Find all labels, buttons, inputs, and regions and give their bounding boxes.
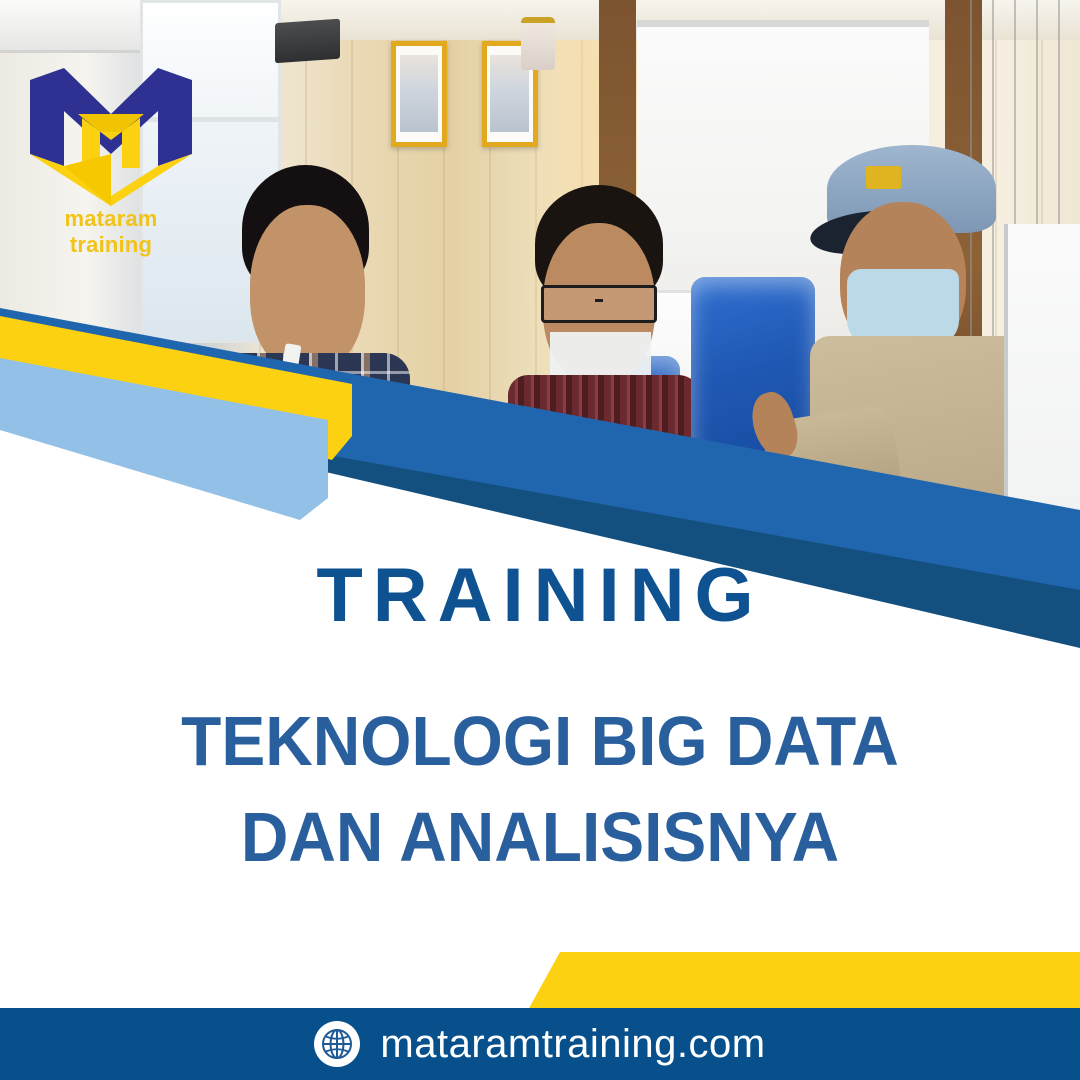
subtitle-line-2: DAN ANALISISNYA: [32, 802, 1047, 872]
cap-badge: [866, 166, 901, 189]
eyeglasses-icon: [541, 285, 658, 323]
footer-bar: mataramtraining.com: [0, 1008, 1080, 1080]
brand-logo[interactable]: mataram training: [22, 58, 200, 243]
poster-canvas: mataram training TRAINING TEKNOLOGI BIG …: [0, 0, 1080, 1080]
head: [250, 205, 365, 373]
website-url[interactable]: mataramtraining.com: [380, 1022, 765, 1067]
subtitle-line-1: TEKNOLOGI BIG DATA: [32, 706, 1047, 776]
ceiling-speaker-icon: [275, 19, 340, 63]
framed-portrait-1: [391, 41, 447, 147]
globe-glyph: [320, 1027, 354, 1061]
water-dispenser: [521, 17, 556, 70]
footer-accent-strip: [0, 952, 1080, 1010]
mataram-m-logo-icon: [22, 58, 200, 206]
face-mask: [847, 269, 959, 346]
brand-logo-text: mataram training: [22, 206, 200, 258]
page-title: TRAINING: [0, 558, 1080, 634]
air-conditioner: [0, 0, 140, 53]
globe-icon: [314, 1021, 360, 1067]
